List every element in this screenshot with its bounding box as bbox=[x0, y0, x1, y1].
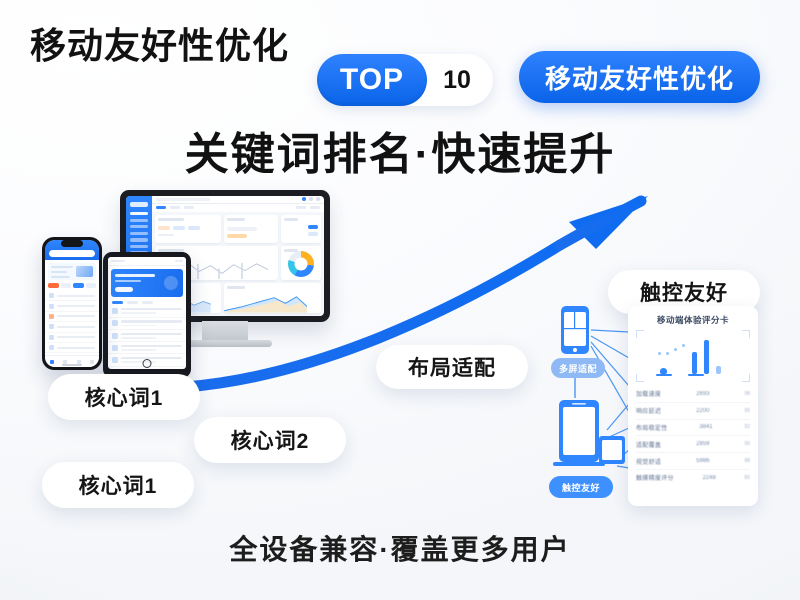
keyword-pill-layout[interactable]: 布局适配 bbox=[376, 345, 528, 389]
dashboard-card bbox=[155, 215, 221, 243]
tag-pill[interactable]: 移动友好性优化 bbox=[519, 51, 760, 103]
tablet-home-button[interactable] bbox=[143, 359, 152, 368]
list-item bbox=[108, 330, 186, 342]
scorecard-chart bbox=[636, 330, 750, 382]
scorecard-rows: 加载速度 2693 98 响应延迟 2200 95 布局稳定性 3841 92 … bbox=[628, 386, 758, 486]
illustration-pill-bottom: 触控友好 bbox=[549, 476, 613, 498]
mobile-score-card: 移动端体验评分卡 加载速度 2693 98 bbox=[628, 306, 758, 506]
monitor-stand bbox=[202, 321, 248, 341]
promo-poster: 移动友好性优化 TOP 10 移动友好性优化 关键词排名·快速提升 bbox=[0, 0, 800, 600]
top10-badge: TOP 10 bbox=[317, 54, 493, 106]
phone-home-indicator bbox=[62, 364, 82, 366]
dashboard-donutchart bbox=[281, 246, 321, 280]
phone-search-input[interactable] bbox=[49, 250, 95, 257]
list-item bbox=[108, 318, 186, 330]
keyword-pill-1[interactable]: 核心词1 bbox=[48, 374, 200, 420]
list-item bbox=[45, 312, 99, 322]
phone-device bbox=[42, 237, 102, 370]
top-number: 10 bbox=[434, 57, 480, 103]
footer-tagline: 全设备兼容·覆盖更多用户 bbox=[0, 528, 800, 568]
dashboard-card bbox=[281, 215, 321, 243]
phone-promo-card bbox=[48, 263, 96, 280]
table-row: 布局稳定性 3841 92 bbox=[636, 420, 750, 437]
table-row: 视觉舒适 5986 88 bbox=[636, 453, 750, 470]
phone-notch bbox=[61, 240, 83, 247]
list-item bbox=[108, 306, 186, 318]
mobile-experience-illustration: 多屏适配 触控友好 移动端体验评分卡 加载速度 26 bbox=[543, 300, 768, 515]
device-mockups bbox=[20, 190, 350, 390]
table-row: 适配覆盖 2859 90 bbox=[636, 436, 750, 453]
page-kicker: 移动友好性优化 bbox=[30, 28, 289, 64]
table-row: 响应延迟 2200 95 bbox=[636, 403, 750, 420]
dashboard-topbar bbox=[152, 196, 324, 204]
monitor-base bbox=[178, 340, 272, 347]
keyword-pill-2[interactable]: 核心词2 bbox=[194, 417, 346, 463]
tablet-device bbox=[103, 252, 191, 378]
tablet-banner bbox=[111, 269, 183, 297]
list-item bbox=[45, 343, 99, 353]
table-row: 加载速度 2693 98 bbox=[636, 386, 750, 403]
illustration-pill-top: 多屏适配 bbox=[551, 358, 605, 378]
dashboard-card bbox=[224, 215, 278, 243]
list-item bbox=[45, 291, 99, 301]
list-item bbox=[108, 342, 186, 354]
top-label: TOP bbox=[317, 54, 427, 106]
scorecard-title: 移动端体验评分卡 bbox=[628, 314, 758, 326]
dashboard-areachart bbox=[224, 283, 321, 313]
table-row: 触摸精度评分 2248 85 bbox=[636, 470, 750, 486]
list-item bbox=[45, 322, 99, 332]
list-item bbox=[45, 333, 99, 343]
keyword-pill-3[interactable]: 核心词1 bbox=[42, 462, 194, 508]
list-item bbox=[45, 301, 99, 311]
